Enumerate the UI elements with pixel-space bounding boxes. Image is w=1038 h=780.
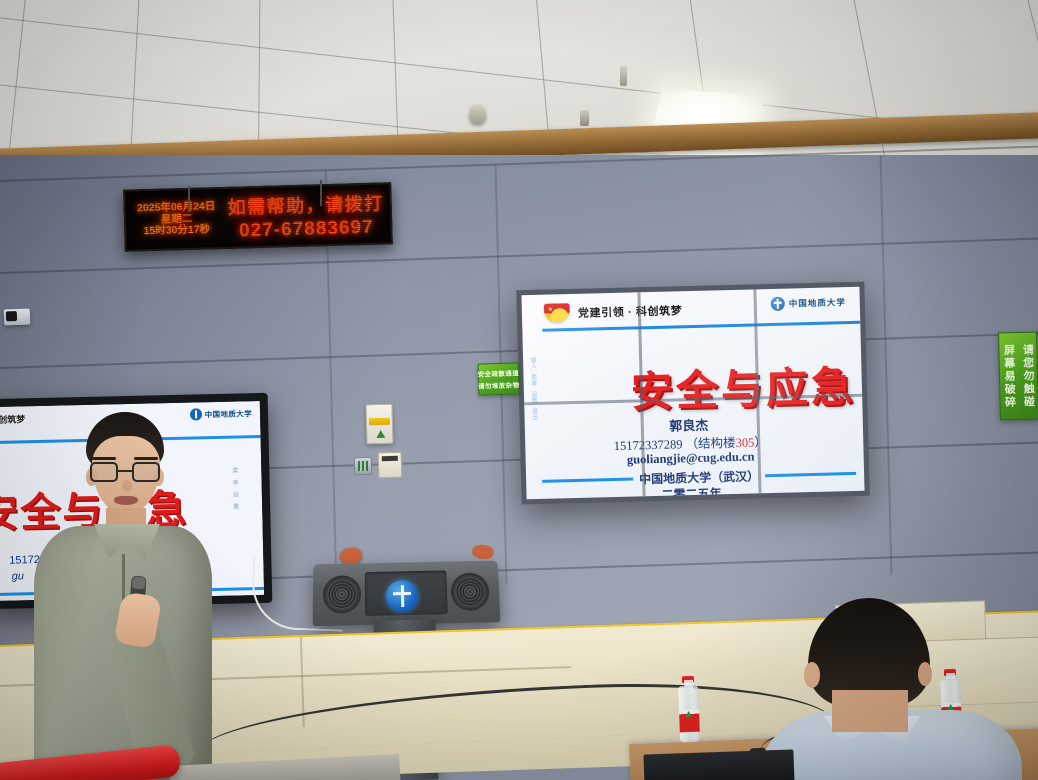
foreground-laptop	[643, 749, 794, 780]
slide-header-text: 党建引领 · 科创筑梦	[578, 302, 683, 321]
slide-top-rule	[542, 321, 860, 332]
green-notice-sign-small: 安全疏散通道 请勿堆放杂物	[478, 362, 520, 395]
room-scene: 2025年06月24日 星期二 15时30分17秒 如需帮助，请拨打 027-6…	[0, 0, 1038, 780]
led-hanger	[188, 186, 190, 212]
bottle-label	[679, 710, 700, 733]
screen-warning-col2: 屏幕易破碎	[1000, 344, 1017, 409]
main-video-wall[interactable]: 党建引领 · 科创筑梦 中国地质大学 安全与应急 郭良杰 15172337289…	[516, 282, 869, 505]
presenter-eyebrow	[92, 457, 116, 460]
slide-room-prefix: （结构楼	[685, 436, 735, 451]
wall-control-panel[interactable]	[378, 452, 403, 479]
video-wall-osd-menu[interactable]: 输入 菜单 设置 退出	[528, 357, 539, 420]
led-message-line1: 如需帮助，请拨打	[227, 189, 384, 219]
slide-rule-right	[765, 472, 856, 477]
led-datetime-block: 2025年06月24日 星期二 15时30分17秒	[126, 201, 223, 238]
attendee-neck	[832, 690, 908, 732]
attendee-ear	[918, 662, 932, 686]
left-monitor-osd[interactable]: 菜 单 设 置	[232, 465, 242, 510]
podium-lectern[interactable]	[313, 561, 501, 627]
fire-alarm-call-point[interactable]	[365, 404, 393, 445]
wall-control-panel[interactable]	[354, 457, 372, 475]
sprinkler-head-icon	[620, 66, 627, 86]
eyeglasses-icon	[90, 462, 162, 482]
slide-university-logo: 中国地质大学	[771, 295, 846, 311]
slide-rule-left	[542, 477, 633, 482]
led-message-line2: 027-67883697	[239, 216, 374, 242]
attendee-ear	[804, 662, 820, 688]
presenter-eyebrow	[134, 457, 158, 460]
green-sign-line2: 请勿堆放杂物	[478, 379, 520, 390]
led-time: 15时30分17秒	[143, 225, 210, 238]
seated-attendee-back-view	[770, 598, 1020, 780]
screen-warning-col1: 请您勿触碰	[1019, 343, 1036, 408]
slide-university-logo-text: 中国地质大学	[789, 296, 846, 309]
presenter-nose	[122, 480, 132, 492]
speaker-grille-icon	[450, 572, 490, 611]
screen-warning-sign: 屏幕易破碎 请您勿触碰	[998, 332, 1038, 421]
water-bottle[interactable]	[678, 676, 700, 743]
smoke-detector-icon	[469, 104, 486, 124]
led-hanger	[320, 180, 322, 206]
slide-room-suffix: ）	[754, 435, 767, 449]
video-wall-slide: 党建引领 · 科创筑梦 中国地质大学 安全与应急 郭良杰 15172337289…	[521, 287, 864, 499]
led-date: 2025年06月24日	[137, 201, 215, 214]
university-emblem-icon	[771, 297, 785, 311]
presenter-mouth	[114, 496, 138, 505]
speaker-grille-icon	[323, 575, 361, 614]
wall-camera-icon	[4, 309, 31, 326]
sprinkler-head-icon	[580, 110, 589, 126]
party-emblem-icon	[544, 303, 570, 323]
presenter-holding-microphone	[22, 412, 212, 780]
slide-room-number: 305	[735, 435, 754, 449]
led-message-block: 如需帮助，请拨打 027-67883697	[221, 189, 390, 243]
green-sign-line1: 安全疏散通道	[477, 367, 519, 378]
led-information-sign: 2025年06月24日 星期二 15时30分17秒 如需帮助，请拨打 027-6…	[123, 182, 393, 251]
